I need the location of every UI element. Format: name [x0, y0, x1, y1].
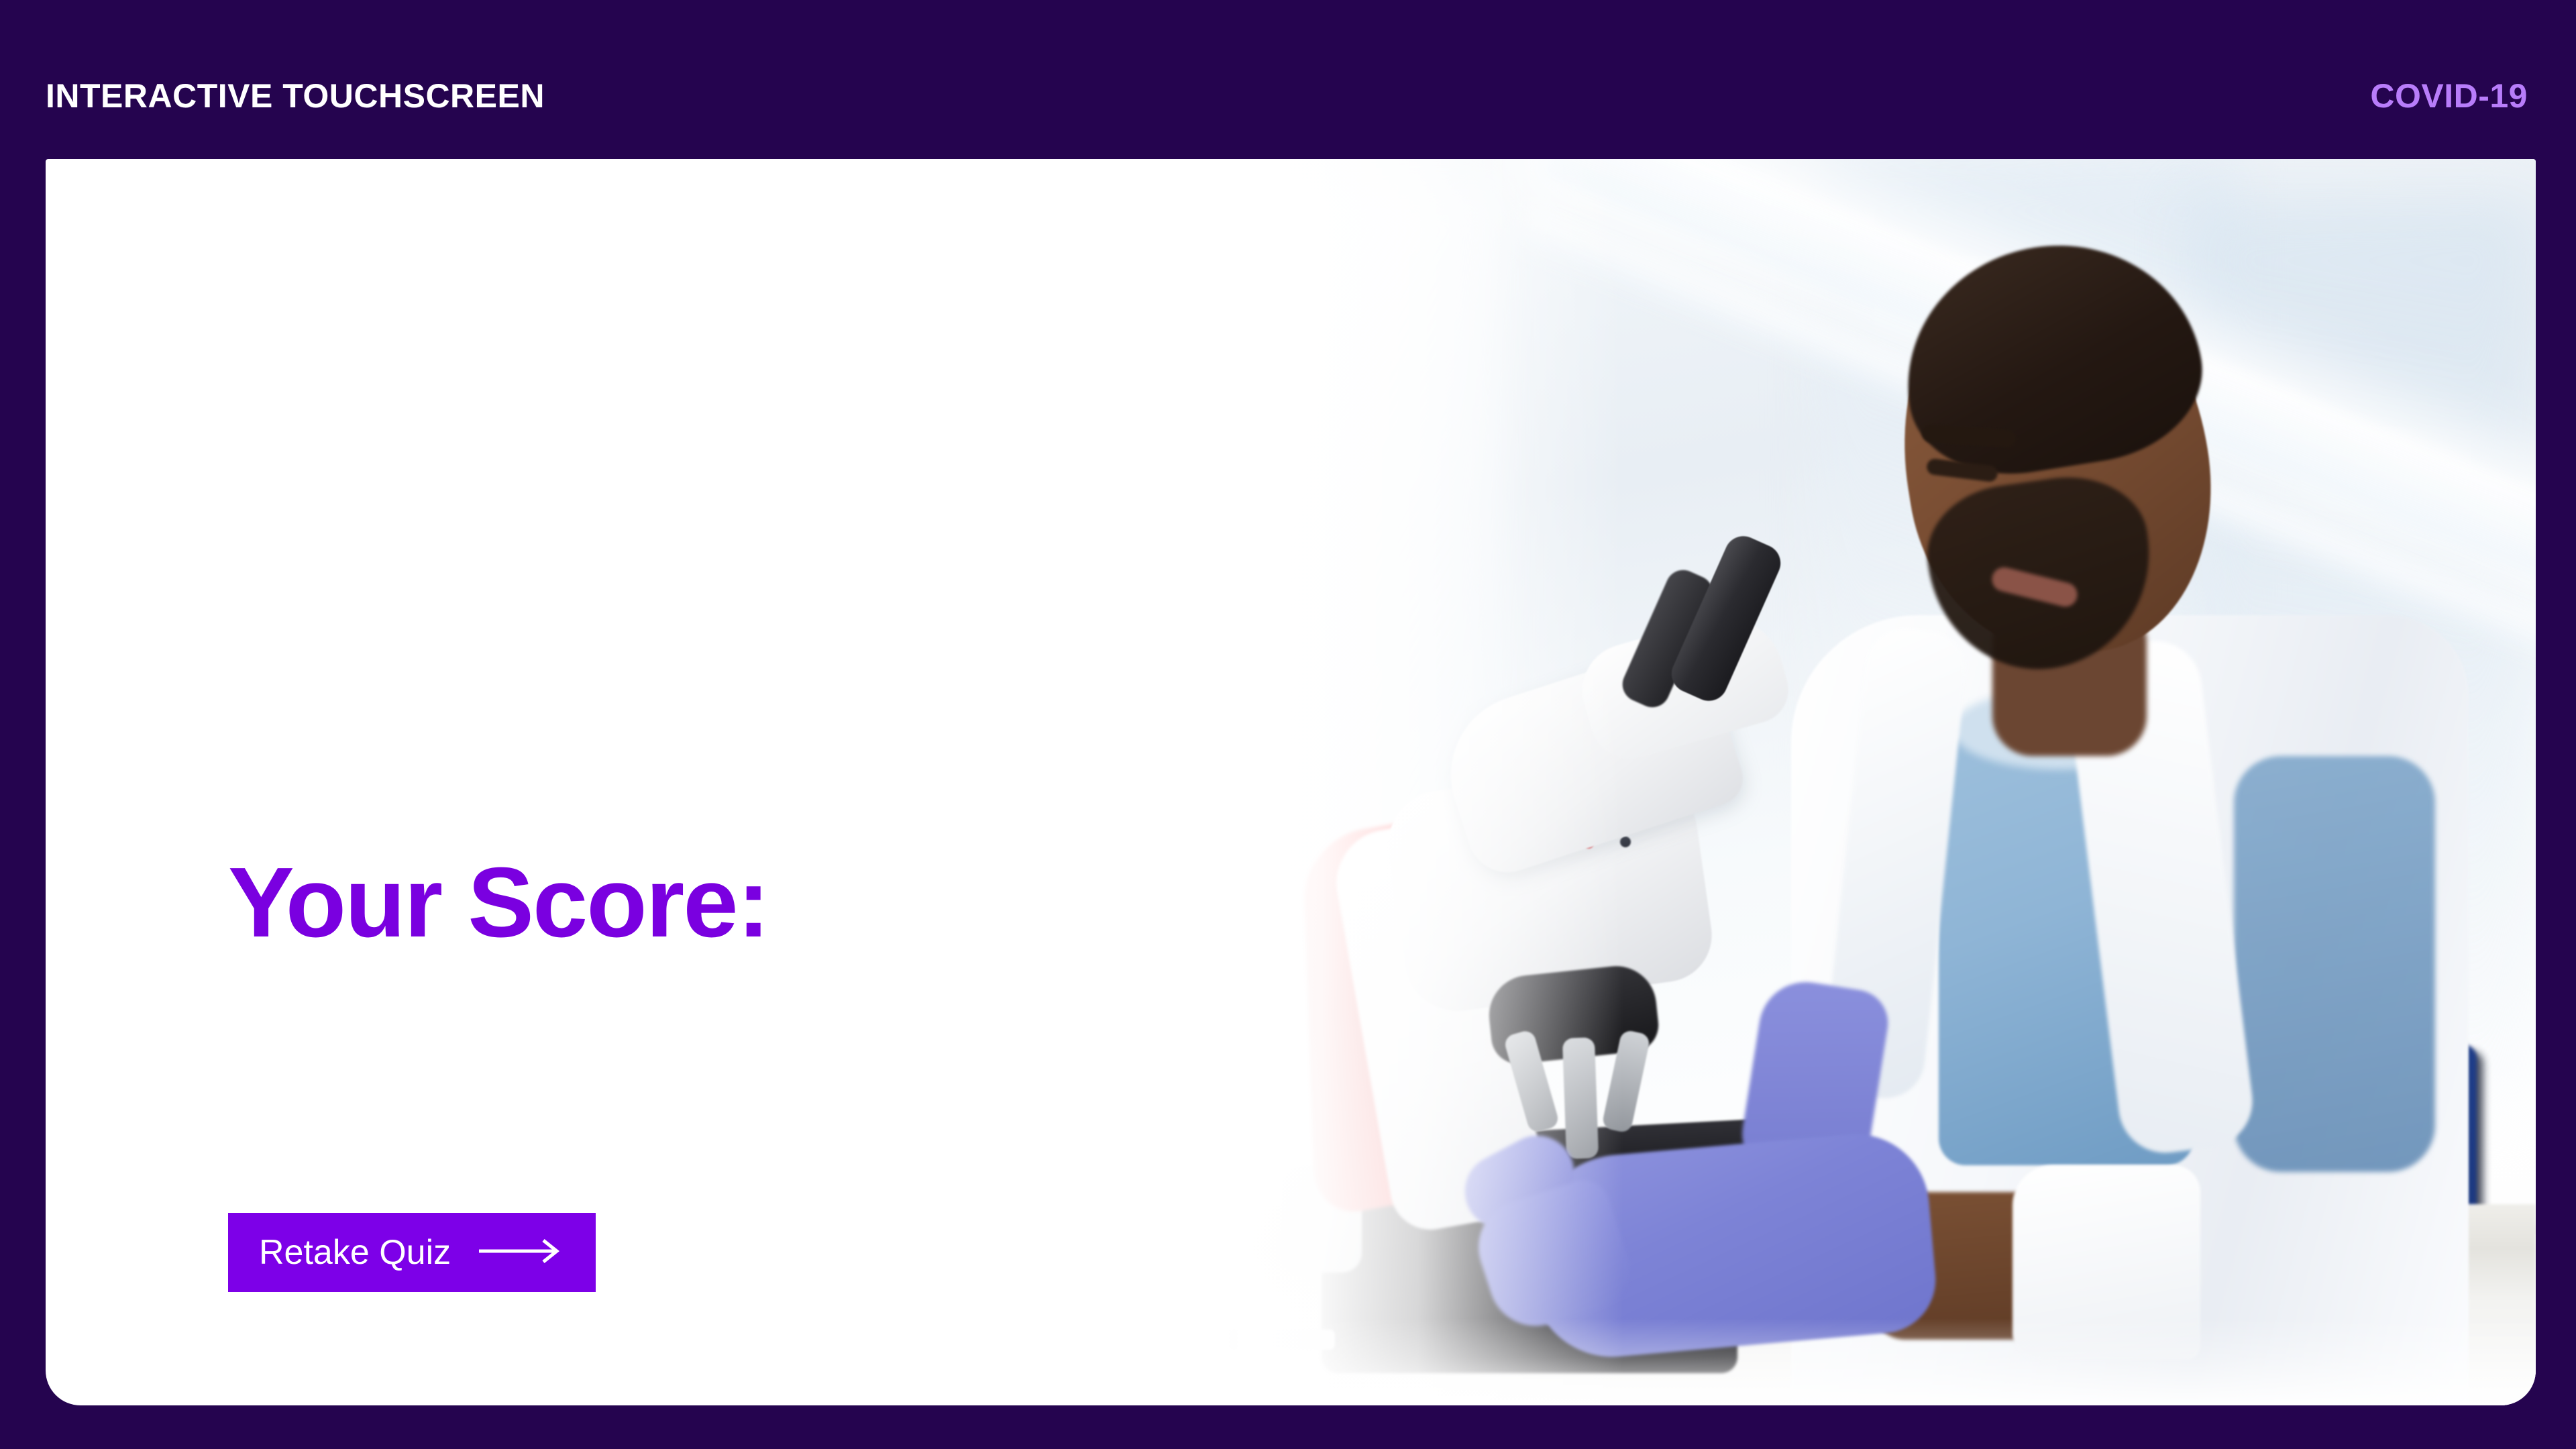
screen-root: INTERACTIVE TOUCHSCREEN COVID-19	[0, 0, 2576, 1449]
page-title: INTERACTIVE TOUCHSCREEN	[46, 79, 545, 113]
top-bar: INTERACTIVE TOUCHSCREEN COVID-19	[0, 0, 2576, 159]
topic-badge: COVID-19	[2370, 79, 2528, 113]
photo-bottom-fade	[1020, 1318, 2536, 1405]
score-headline: Your Score:	[228, 853, 769, 953]
content-card: Your Score: Retake Quiz ©2025 Sanofi. Al…	[46, 159, 2536, 1405]
scrub-right-panel	[2234, 756, 2435, 1172]
arrow-right-icon	[478, 1237, 565, 1269]
retake-quiz-button[interactable]: Retake Quiz	[228, 1213, 596, 1292]
lab-photo	[1020, 159, 2536, 1405]
photo-left-fade	[1020, 159, 1623, 1405]
retake-quiz-label: Retake Quiz	[259, 1235, 451, 1270]
